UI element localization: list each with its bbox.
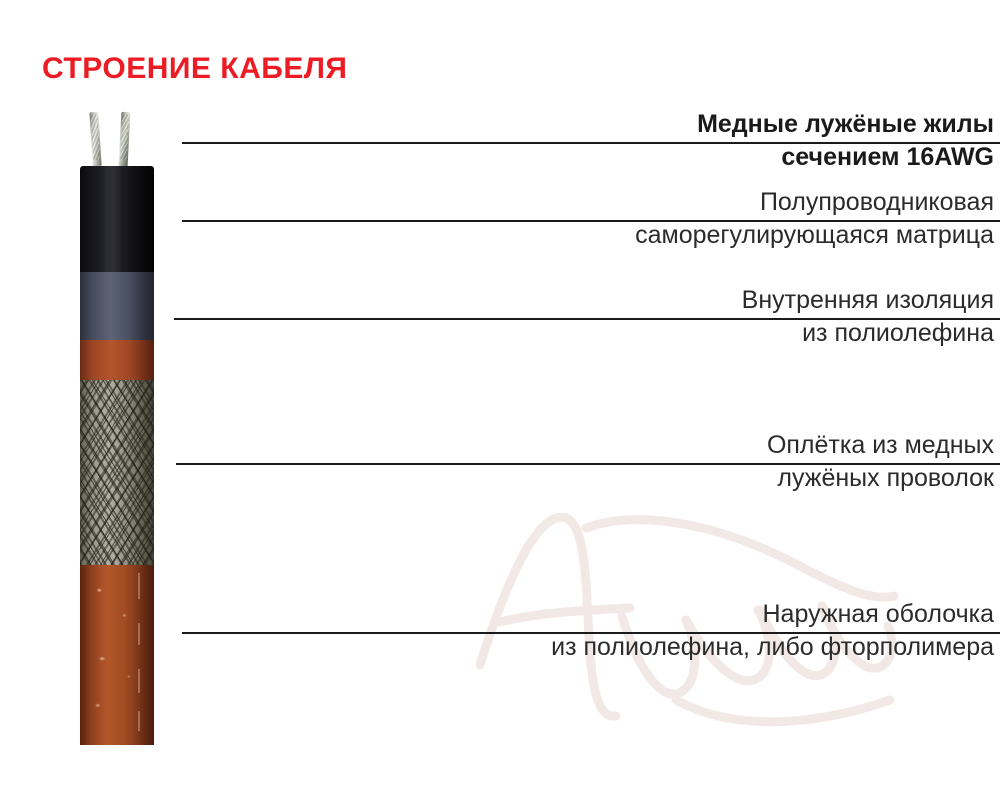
jacket-highlight [138,623,140,645]
label-matrix-line1: Полупроводниковая [635,186,994,219]
label-conductors-line1: Медные лужёные жилы [697,108,994,141]
cable-structure-diagram: СТРОЕНИЕ КАБЕЛЯ Медные лужёные жилы сече… [0,0,1000,800]
label-matrix-line2: саморегулирующаяся матрица [635,219,994,252]
jacket-highlight [138,573,140,599]
cable-layer-braid [80,380,154,565]
label-braid-line1: Оплётка из медных [767,429,994,462]
label-outer-jacket-line2: из полиолефина, либо фторполимера [551,631,994,664]
label-outer-jacket: Наружная оболочка из полиолефина, либо ф… [551,598,994,664]
cable-layer-outer-jacket [80,565,154,745]
label-inner-insulation-line2: из полиолефина [742,317,994,350]
label-braid: Оплётка из медных лужёных проволок [767,429,994,495]
label-outer-jacket-line1: Наружная оболочка [551,598,994,631]
cable-layer-jacket-collar [80,340,154,380]
jacket-highlight [138,669,140,693]
label-inner-insulation-line1: Внутренняя изоляция [742,284,994,317]
cable-illustration [80,112,154,752]
label-conductors-line2: сечением 16AWG [697,141,994,174]
label-matrix: Полупроводниковая саморегулирующаяся мат… [635,186,994,252]
jacket-highlight [138,711,140,731]
cable-layer-matrix [80,166,154,272]
label-braid-line2: лужёных проволок [767,462,994,495]
page-title: СТРОЕНИЕ КАБЕЛЯ [42,52,347,86]
label-inner-insulation: Внутренняя изоляция из полиолефина [742,284,994,350]
conductor-wire-left [89,112,101,166]
label-conductors: Медные лужёные жилы сечением 16AWG [697,108,994,174]
conductor-wire-right [119,112,131,166]
cable-layer-inner-insulation [80,272,154,340]
